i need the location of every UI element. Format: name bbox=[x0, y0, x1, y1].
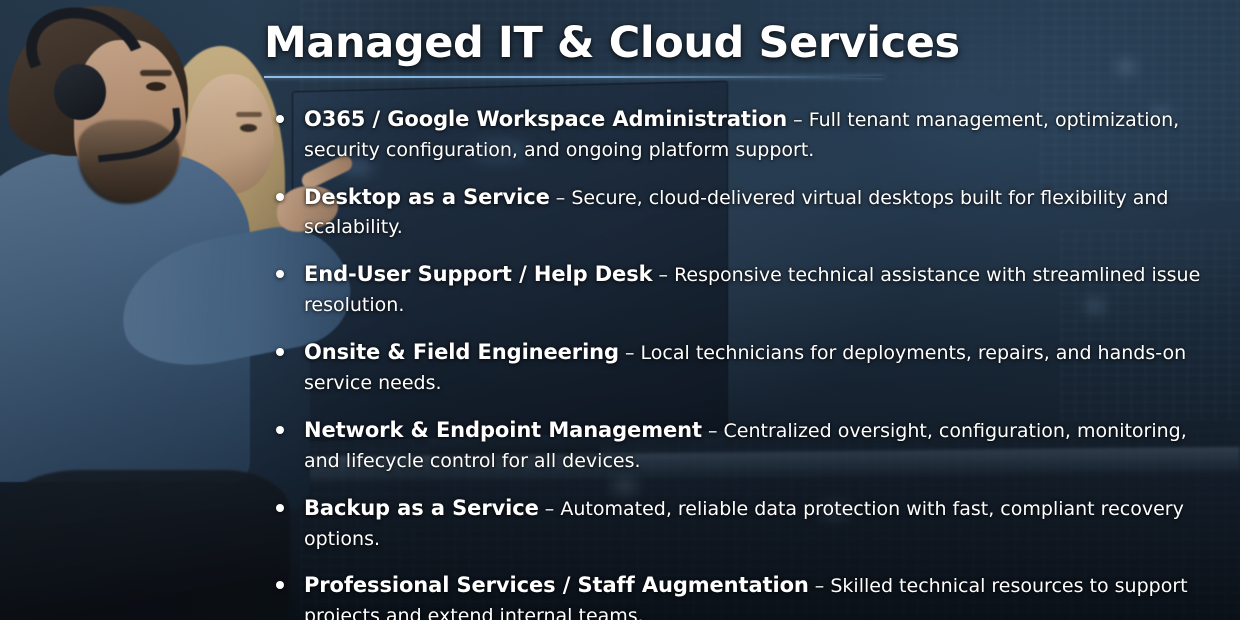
service-name: Backup as a Service bbox=[304, 496, 539, 520]
service-dash: – bbox=[809, 575, 831, 597]
service-name: Desktop as a Service bbox=[304, 185, 550, 209]
bullet-dot-icon bbox=[276, 270, 284, 278]
service-dash: – bbox=[550, 187, 572, 209]
service-name: End-User Support / Help Desk bbox=[304, 262, 652, 286]
list-item: Onsite & Field Engineering – Local techn… bbox=[264, 337, 1214, 398]
bullet-dot-icon bbox=[276, 504, 284, 512]
services-list: O365 / Google Workspace Administration –… bbox=[264, 104, 1214, 620]
list-item: Desktop as a Service – Secure, cloud-del… bbox=[264, 182, 1214, 243]
list-item: O365 / Google Workspace Administration –… bbox=[264, 104, 1214, 165]
bullet-dot-icon bbox=[276, 115, 284, 123]
service-name: Network & Endpoint Management bbox=[304, 418, 702, 442]
list-item: Network & Endpoint Management – Centrali… bbox=[264, 415, 1214, 476]
slide-content: Managed IT & Cloud Services O365 / Googl… bbox=[0, 0, 1240, 620]
service-dash: – bbox=[652, 264, 674, 286]
bullet-dot-icon bbox=[276, 426, 284, 434]
service-dash: – bbox=[539, 498, 561, 520]
slide: Managed IT & Cloud Services O365 / Googl… bbox=[0, 0, 1240, 620]
title-underline bbox=[264, 76, 884, 78]
service-name: Professional Services / Staff Augmentati… bbox=[304, 573, 809, 597]
list-item: Professional Services / Staff Augmentati… bbox=[264, 570, 1214, 620]
bullet-dot-icon bbox=[276, 348, 284, 356]
service-name: O365 / Google Workspace Administration bbox=[304, 107, 787, 131]
bullet-dot-icon bbox=[276, 581, 284, 589]
service-name: Onsite & Field Engineering bbox=[304, 340, 619, 364]
service-dash: – bbox=[787, 109, 809, 131]
list-item: Backup as a Service – Automated, reliabl… bbox=[264, 493, 1214, 554]
bullet-dot-icon bbox=[276, 193, 284, 201]
list-item: End-User Support / Help Desk – Responsiv… bbox=[264, 259, 1214, 320]
page-title: Managed IT & Cloud Services bbox=[264, 18, 1222, 69]
service-dash: – bbox=[619, 342, 641, 364]
service-dash: – bbox=[702, 420, 724, 442]
